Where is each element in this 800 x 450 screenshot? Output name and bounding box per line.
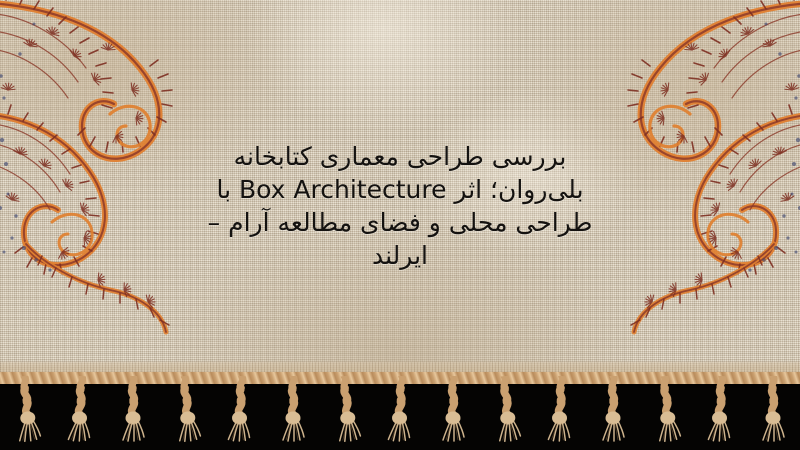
- tassel: [651, 375, 683, 443]
- knotted-tassel-fringe: [0, 372, 800, 450]
- tassel: [705, 375, 734, 442]
- tassel: [225, 375, 254, 442]
- tassel: [65, 375, 94, 442]
- tassel: [385, 375, 414, 442]
- tassel: [280, 376, 306, 442]
- tassel: [760, 376, 786, 442]
- tassel: [491, 375, 523, 443]
- tassel: [545, 375, 574, 442]
- slide-canvas: بررسی طراحی معماری کتابخانه بلی‌روان؛ اث…: [0, 0, 800, 450]
- tassel: [600, 376, 626, 442]
- title-line-1: بررسی طراحی معماری کتابخانه: [0, 140, 800, 173]
- tassel: [11, 375, 43, 443]
- tassel: [120, 376, 146, 442]
- title-line-4: ایرلند: [0, 239, 800, 272]
- tassel: [331, 375, 363, 443]
- title-line-2: بلی‌روان؛ اثر Box Architecture با: [0, 173, 800, 206]
- tassel: [440, 376, 466, 442]
- tassel: [171, 375, 203, 443]
- title-line-3: طراحی محلی و فضای مطالعه آرام –: [0, 206, 800, 239]
- slide-title: بررسی طراحی معماری کتابخانه بلی‌روان؛ اث…: [0, 140, 800, 272]
